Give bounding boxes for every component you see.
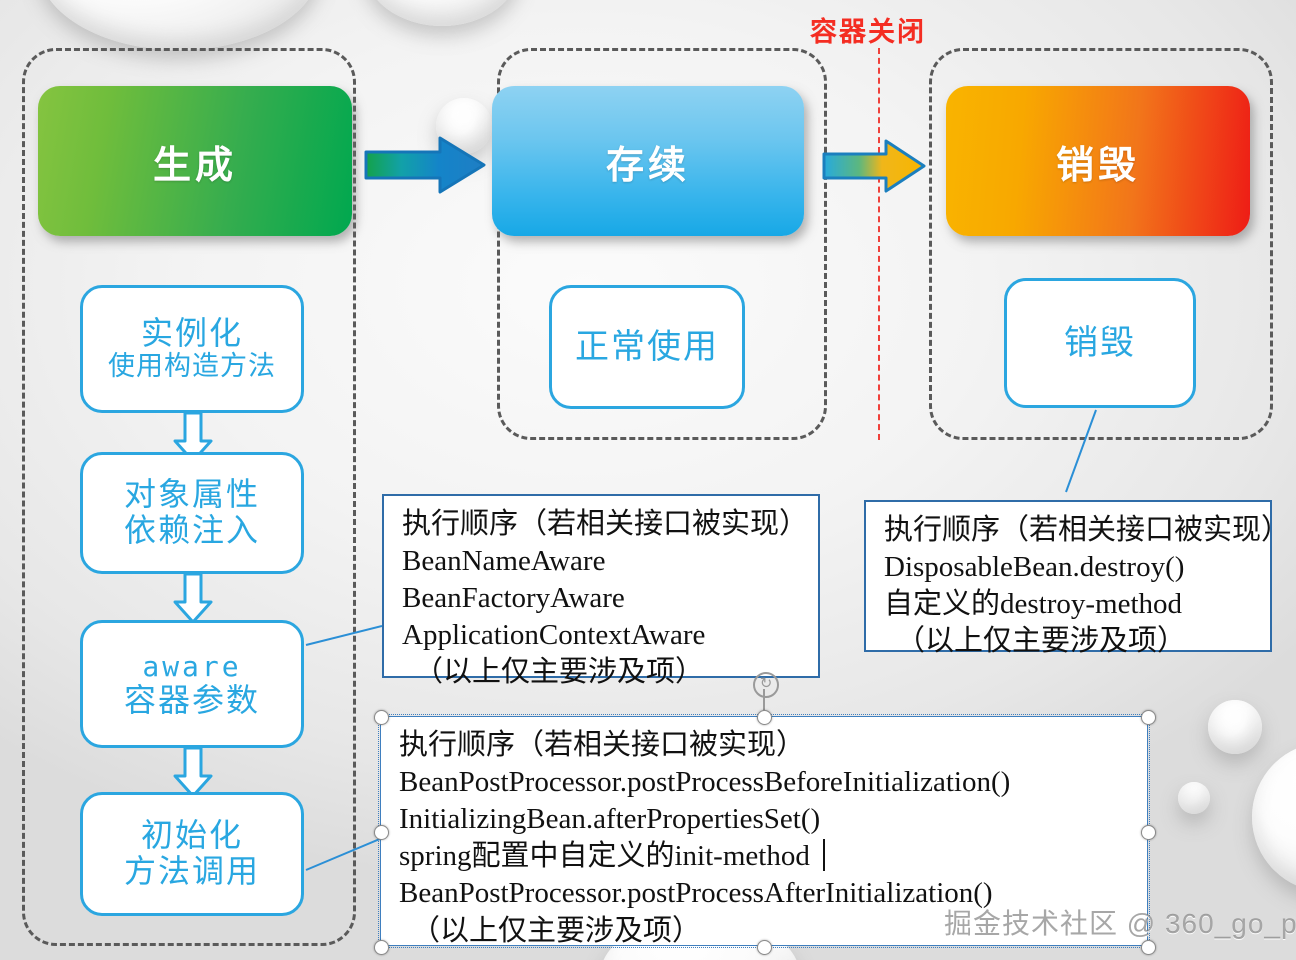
selection-handle-bottom-center[interactable] (757, 940, 772, 955)
note-line: spring配置中自定义的init-method (399, 838, 1133, 875)
selection-handle-top-left[interactable] (374, 710, 389, 725)
note-line: 自定义的destroy-method (884, 586, 1256, 623)
selection-handle-top-right[interactable] (1141, 710, 1156, 725)
note-line: InitializingBean.afterPropertiesSet() (399, 801, 1133, 838)
selection-handle-top-center[interactable] (757, 710, 772, 725)
note-line: 执行顺序（若相关接口被实现） (399, 727, 1133, 764)
selection-handle-middle-left[interactable] (374, 825, 389, 840)
selection-handle-bottom-left[interactable] (374, 940, 389, 955)
watermark: 掘金技术社区 @ 360_go_php (944, 902, 1296, 942)
text-caret (823, 839, 825, 871)
note-line: 执行顺序（若相关接口被实现） (884, 512, 1256, 549)
note-line: BeanNameAware (402, 543, 804, 580)
note-line: ApplicationContextAware (402, 617, 804, 654)
slide-canvas: 容器关闭 生成 存续 销毁 (0, 0, 1296, 960)
note-line: 执行顺序（若相关接口被实现） (402, 506, 804, 543)
selection-handle-middle-right[interactable] (1141, 825, 1156, 840)
rotate-handle-icon[interactable]: ↻ (753, 672, 779, 698)
selection-handle-bottom-right[interactable] (1141, 940, 1156, 955)
note-line: （以上仅主要涉及项） (884, 623, 1256, 660)
note-line: BeanFactoryAware (402, 580, 804, 617)
note-line: DisposableBean.destroy() (884, 549, 1256, 586)
note-line: （以上仅主要涉及项） (402, 654, 804, 691)
note-line: BeanPostProcessor.postProcessBeforeIniti… (399, 764, 1133, 801)
note-aware-order[interactable]: 执行顺序（若相关接口被实现） BeanNameAware BeanFactory… (382, 494, 820, 678)
note-destroy-order[interactable]: 执行顺序（若相关接口被实现） DisposableBean.destroy() … (864, 500, 1272, 652)
